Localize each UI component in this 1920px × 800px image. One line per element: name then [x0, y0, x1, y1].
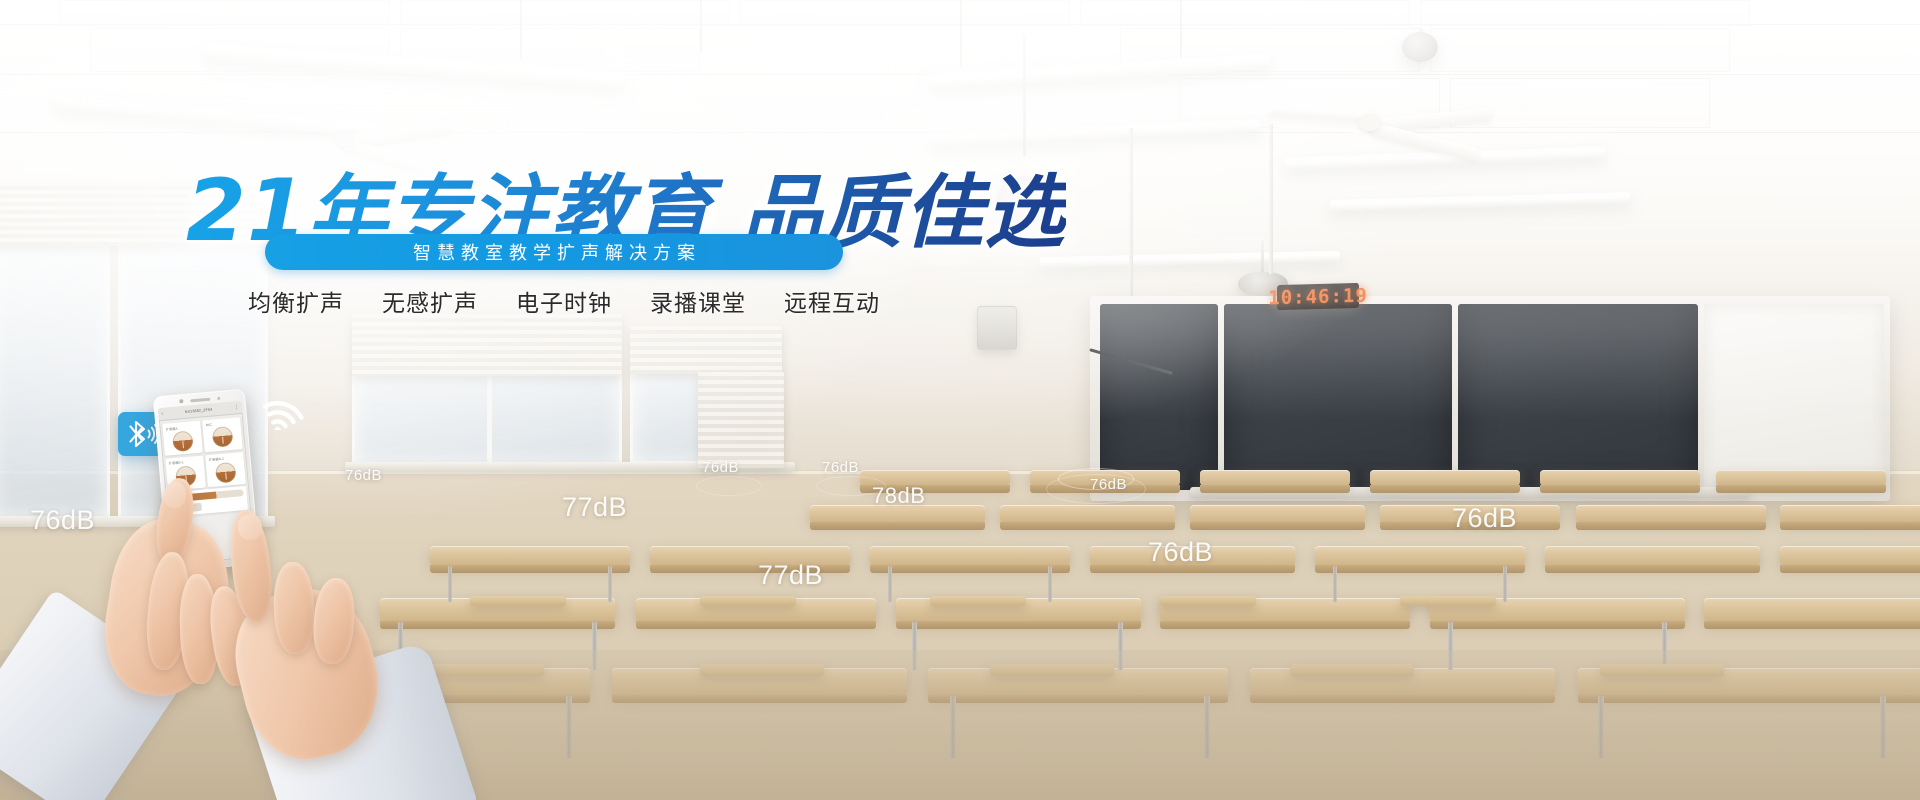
wall-mounted-device [977, 306, 1017, 350]
volume-slider-card[interactable] [168, 486, 248, 517]
device-card-label: 扩音器B-2 [209, 456, 225, 462]
device-card-label: 扩音器A [165, 425, 177, 431]
feature-item: 远程互动 [784, 284, 880, 318]
db-marker: 76dB [702, 459, 739, 476]
ceiling-speaker [1402, 32, 1438, 62]
volume-knob[interactable] [172, 430, 194, 452]
device-card[interactable]: 扩音器B-1 [165, 455, 205, 490]
device-card-label: MIC [206, 422, 212, 427]
clock-time: 10:46:19 [1268, 284, 1368, 309]
subtitle-text: 智慧教室教学扩声解决方案 [407, 239, 701, 265]
window-blind [352, 314, 622, 376]
feature-item: 均衡扩声 [248, 284, 344, 318]
device-card[interactable]: 扩音器A [162, 421, 202, 456]
volume-knob[interactable] [215, 461, 237, 483]
device-card-grid: 扩音器A MIC 扩音器B-1 扩音器B-2 [159, 414, 251, 520]
db-marker: 78dB [872, 483, 925, 509]
blackboard-panel [1458, 304, 1698, 490]
whiteboard-panel [1704, 304, 1884, 490]
db-marker: 76dB [822, 459, 859, 476]
window-blind [630, 326, 782, 374]
volume-knob[interactable] [175, 465, 197, 487]
slider-button[interactable] [172, 504, 186, 513]
db-marker: 77dB [758, 560, 823, 591]
feature-list: 均衡扩声 无感扩声 电子时钟 录播课堂 远程互动 [248, 284, 880, 318]
blackboard-panel [1100, 304, 1218, 490]
bluetooth-icon [125, 420, 159, 448]
smartphone[interactable]: ‹ NX13682_2F04 ⋮ 扩音器A MIC 扩音器B-1 [153, 389, 260, 572]
slider-button[interactable] [188, 503, 202, 512]
feature-item: 录播课堂 [650, 284, 746, 318]
app-title: NX13682_2F04 [185, 408, 213, 414]
banner-scene: 10:46:19 [0, 0, 1920, 800]
db-marker: 76dB [345, 467, 382, 484]
db-marker: 76dB [1452, 503, 1517, 534]
device-card-label: 扩音器B-1 [168, 459, 184, 465]
wifi-signal-icon [263, 382, 315, 430]
device-card[interactable]: 扩音器B-2 [205, 452, 245, 487]
back-chevron-icon[interactable]: ‹ [161, 411, 163, 416]
db-marker: 76dB [1090, 476, 1127, 493]
ceiling-fan [1355, 104, 1585, 154]
blackboard-panel [1224, 304, 1452, 490]
volume-knob[interactable] [212, 426, 234, 448]
floor [0, 650, 1920, 800]
feature-item: 电子时钟 [516, 284, 612, 318]
led-clock: 10:46:19 [1277, 283, 1359, 310]
front-camera-icon [179, 399, 183, 403]
phone-screen[interactable]: ‹ NX13682_2F04 ⋮ 扩音器A MIC 扩音器B-1 [158, 401, 255, 565]
db-marker: 77dB [562, 492, 627, 523]
subtitle-pill: 智慧教室教学扩声解决方案 [265, 234, 843, 270]
db-marker: 76dB [1148, 537, 1213, 568]
window-blind [698, 372, 784, 468]
db-marker: 76dB [30, 505, 95, 536]
device-card[interactable]: MIC [202, 417, 242, 452]
feature-item: 无感扩声 [382, 284, 478, 318]
more-vertical-icon[interactable]: ⋮ [234, 405, 239, 410]
